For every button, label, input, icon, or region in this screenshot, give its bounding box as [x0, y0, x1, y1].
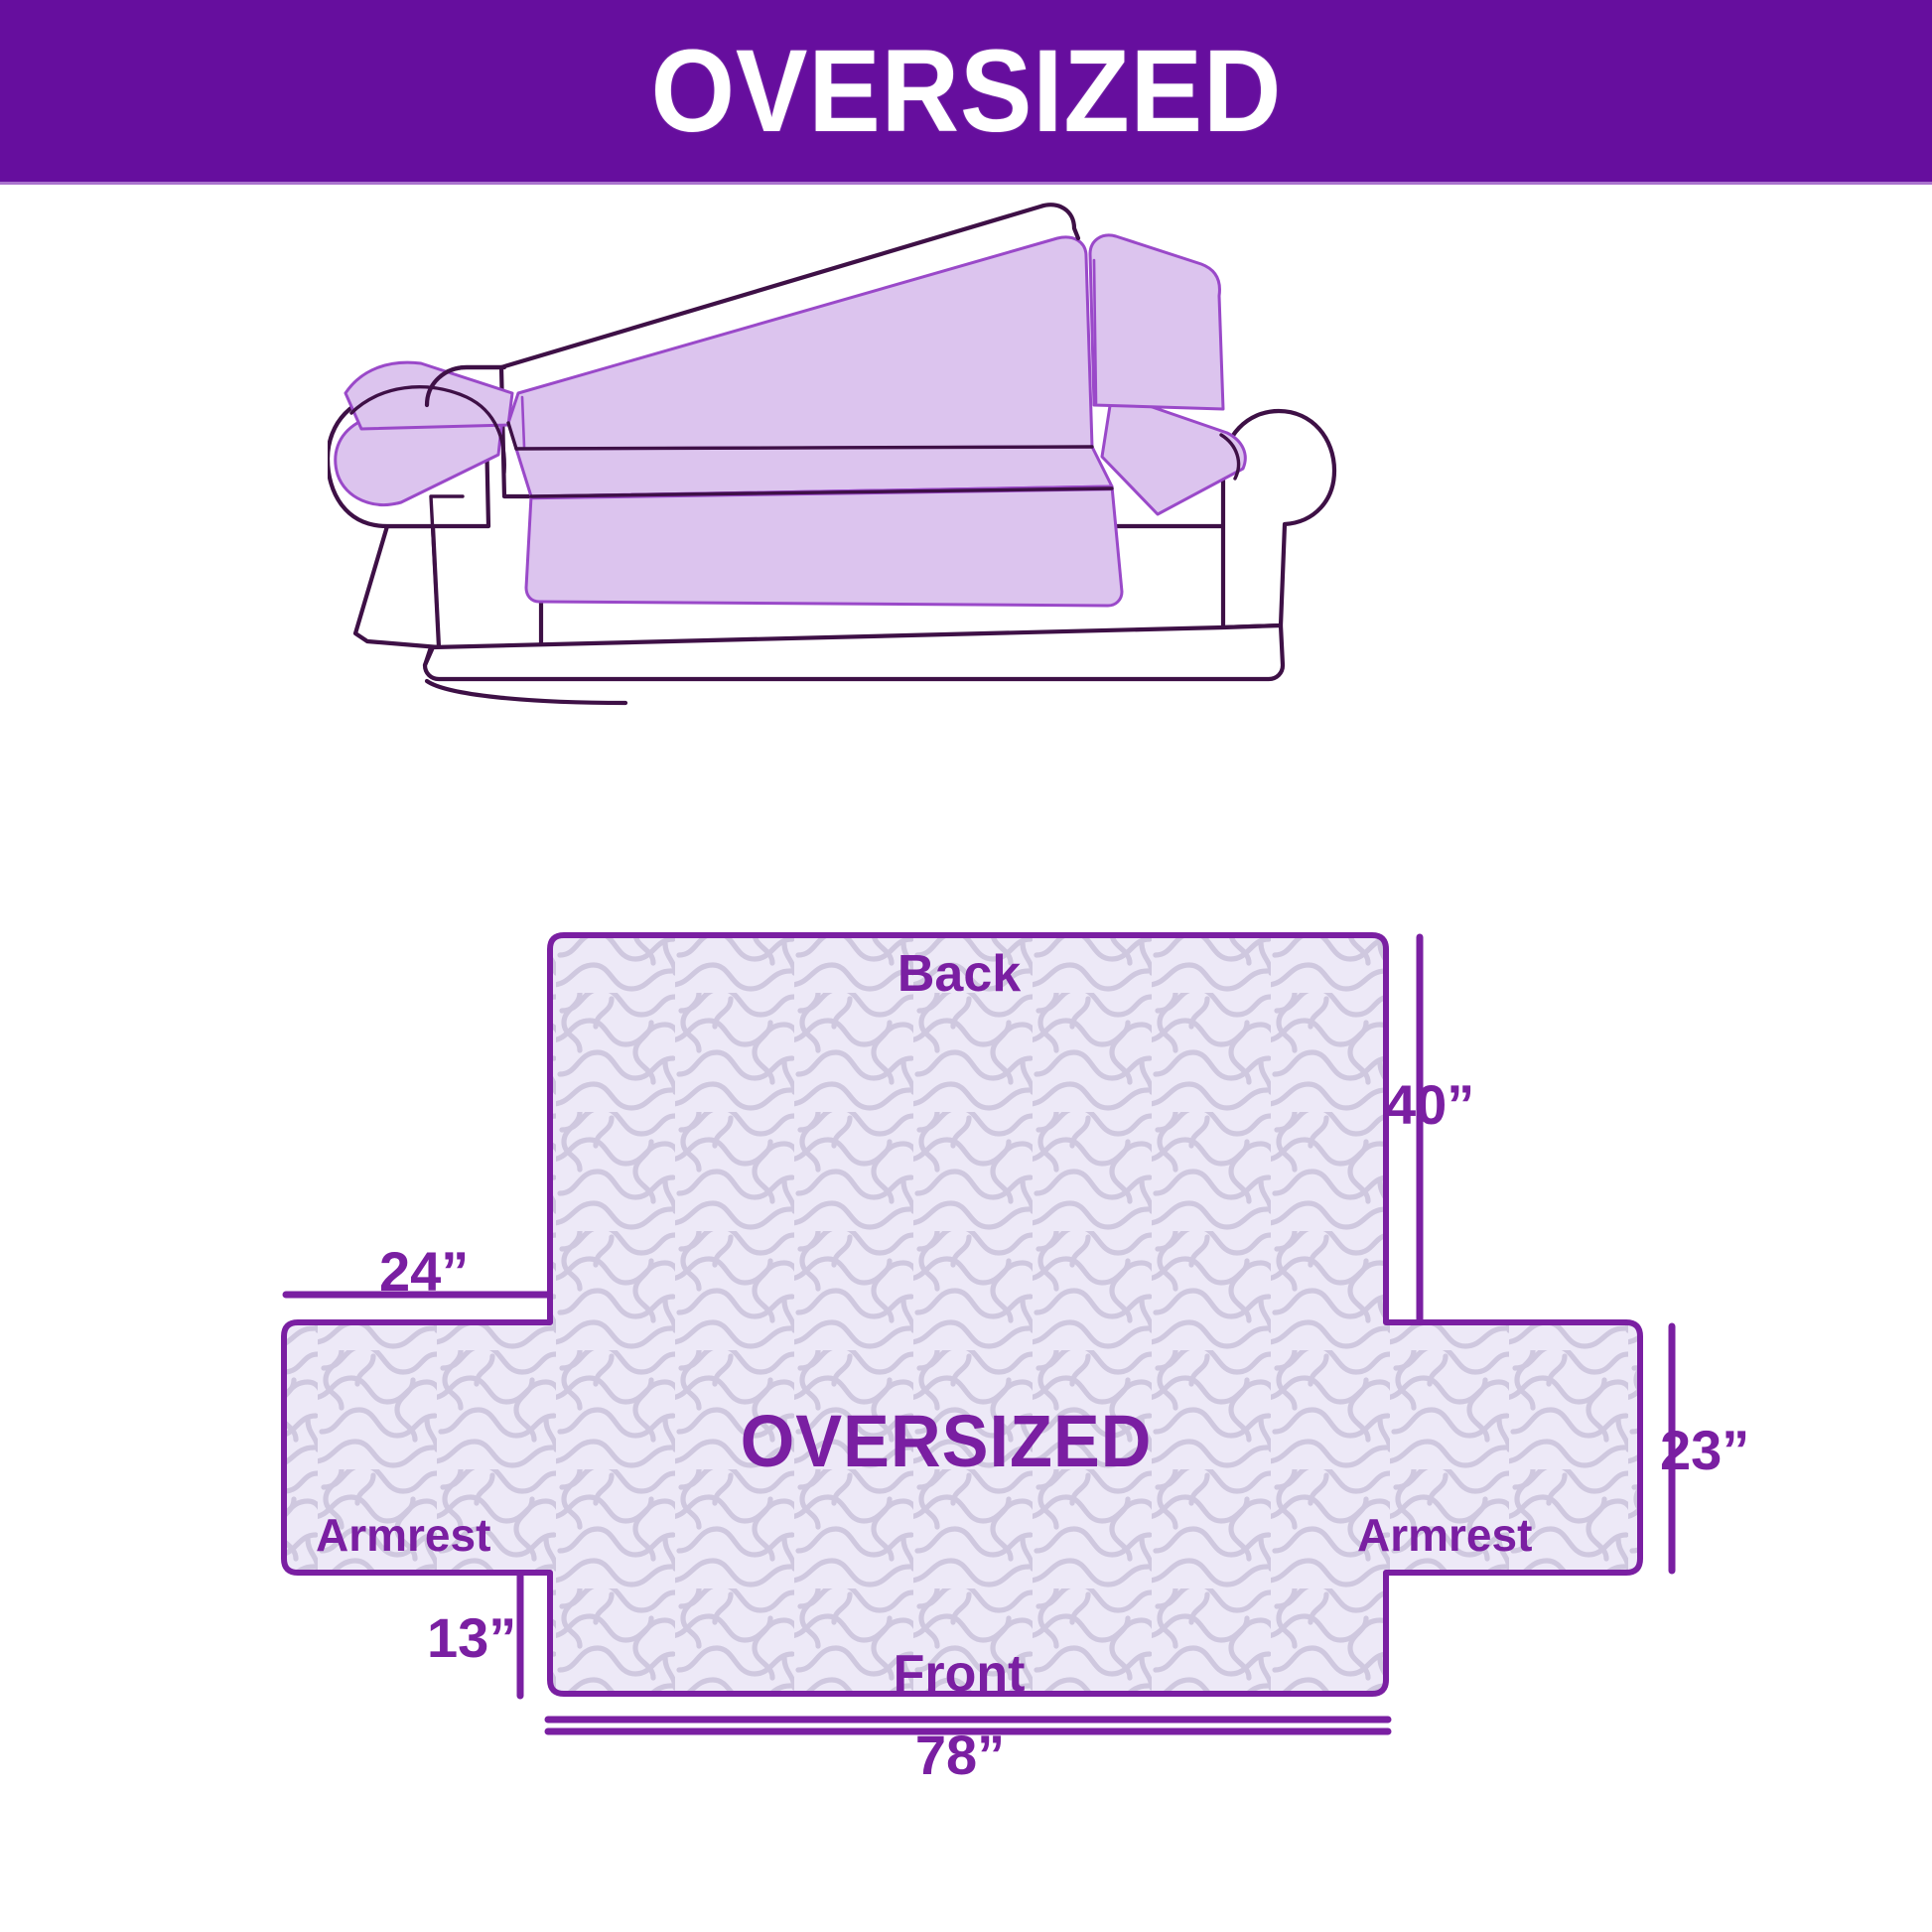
banner-title: OVERSIZED	[650, 33, 1282, 150]
banner-bottom-edge	[0, 182, 1932, 185]
slipcover-outline	[284, 935, 1640, 1694]
sofa-illustration: .ol{fill:none;stroke:#3E1046;stroke-widt…	[328, 199, 1638, 735]
product-dimension-infographic: OVERSIZED .ol{fill:none;stroke:#3E1046;s…	[0, 0, 1932, 1932]
flat-layout-diagram	[199, 874, 1747, 1866]
header-banner: OVERSIZED	[0, 0, 1932, 182]
